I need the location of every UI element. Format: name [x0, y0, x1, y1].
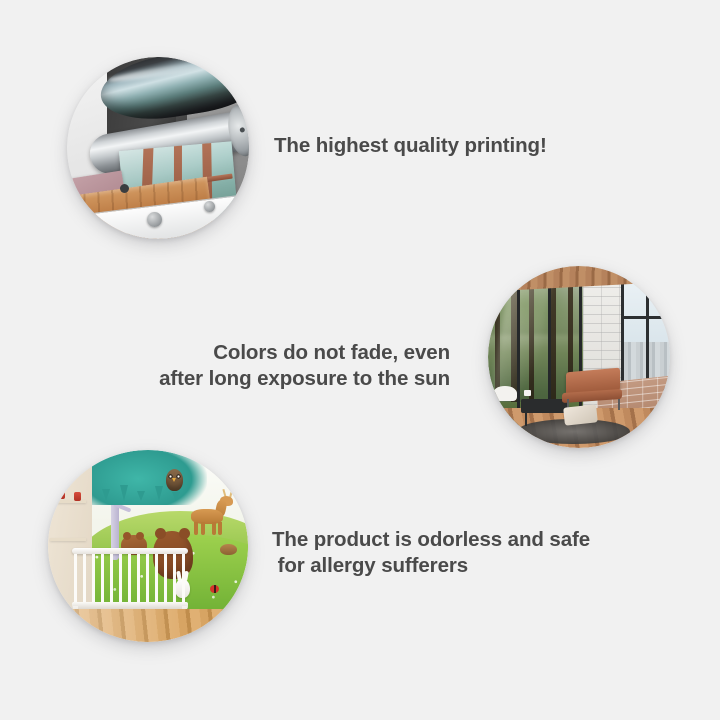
shelf-jar	[56, 488, 65, 499]
caption-printing-quality: The highest quality printing!	[274, 133, 547, 159]
shelf-jar	[74, 492, 81, 501]
mural-owl	[166, 469, 183, 491]
caption-line-2: after long exposure to the sun	[159, 367, 450, 390]
room-window	[621, 277, 670, 390]
nursery-animal-mural-photo	[48, 450, 248, 642]
forest-mural-living-room-photo	[488, 266, 670, 448]
nursery-wooden-floor	[48, 609, 248, 642]
caption-line-1: Colors do not fade, even	[213, 341, 450, 364]
press-knob	[204, 201, 215, 212]
wall-shelf	[50, 500, 86, 503]
caption-line-1: The product is odorless and safe	[272, 528, 590, 551]
press-knob	[147, 212, 162, 227]
printing-press-photo	[67, 57, 249, 239]
promo-canvas: The highest quality printing!	[0, 0, 720, 720]
caption-line-2: for allergy sufferers	[272, 554, 468, 577]
mural-tree-foliage	[92, 450, 207, 505]
mural-deer	[191, 495, 235, 535]
coffee-cup	[524, 390, 531, 396]
throw-pillow	[564, 404, 598, 426]
floor-lamp	[493, 386, 517, 401]
caption-color-fastness: Colors do not fade, evenafter long expos…	[150, 340, 450, 392]
mural-hedgehog	[220, 544, 237, 555]
wall-shelf	[50, 538, 86, 541]
caption-odorless-safe: The product is odorless and safe for all…	[272, 527, 590, 579]
